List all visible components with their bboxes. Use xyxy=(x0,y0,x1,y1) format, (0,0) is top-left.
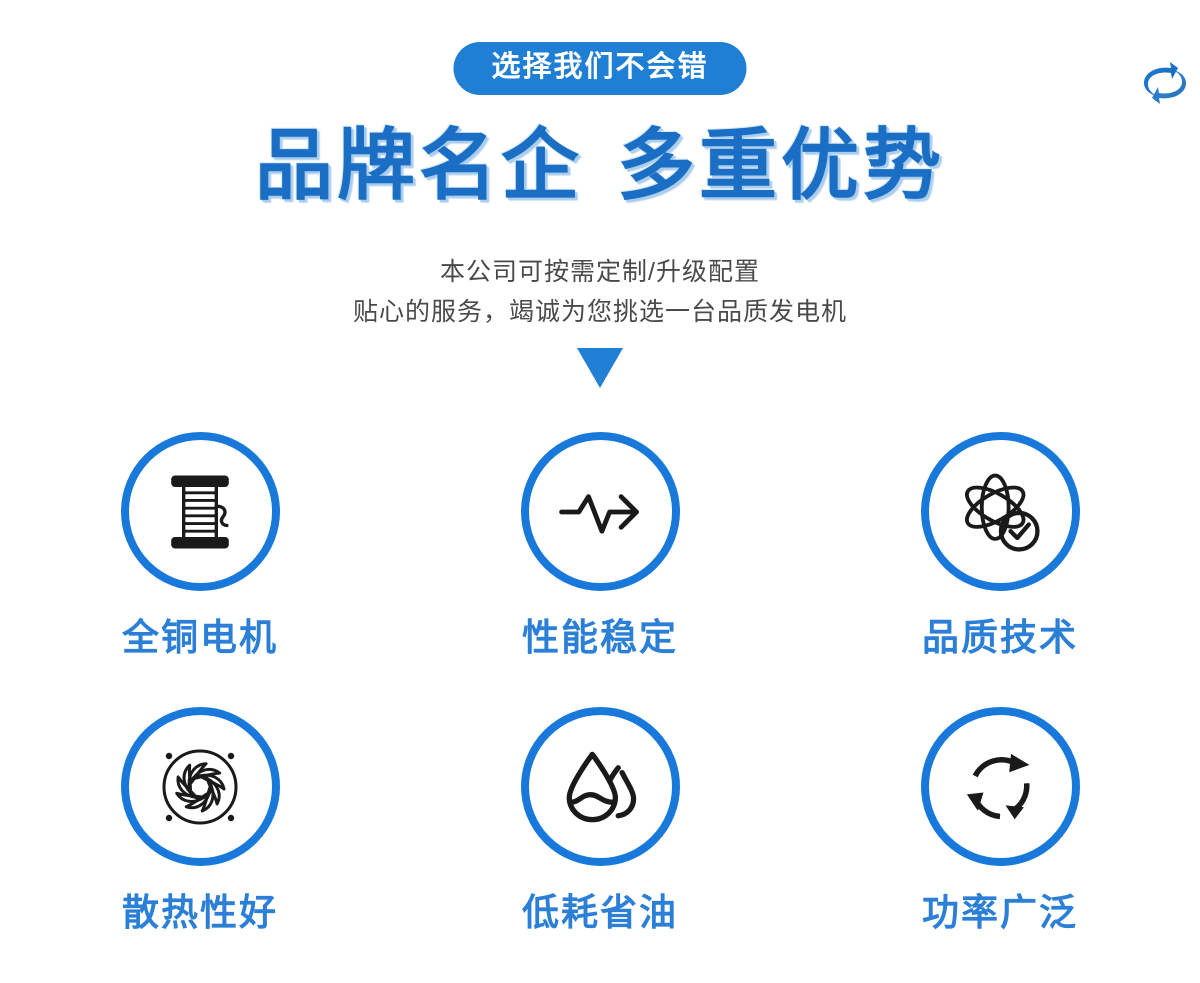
headline-part2: 多重优势 xyxy=(617,121,945,209)
feature-item: 全铜电机 xyxy=(0,432,400,707)
feature-item: 功率广泛 xyxy=(800,707,1200,982)
feature-label: 散热性好 xyxy=(122,894,278,931)
atom-check-icon xyxy=(921,432,1080,591)
headline-part1: 品牌名企 xyxy=(255,121,583,209)
feature-grid: 全铜电机 性能稳定 xyxy=(0,432,1200,982)
feature-label: 品质技术 xyxy=(922,619,1078,656)
page-title: 品牌名企多重优势 xyxy=(0,126,1200,204)
cycle-arrows-icon xyxy=(921,707,1080,866)
feature-label: 性能稳定 xyxy=(522,619,678,656)
feature-item: 散热性好 xyxy=(0,707,400,982)
feature-item: 性能稳定 xyxy=(400,432,800,707)
feature-item: 低耗省油 xyxy=(400,707,800,982)
feature-label: 低耗省油 xyxy=(522,894,678,931)
subtitle: 本公司可按需定制/升级配置 贴心的服务，竭诚为您挑选一台品质发电机 xyxy=(0,252,1200,332)
oil-droplets-icon xyxy=(521,707,680,866)
feature-label: 功率广泛 xyxy=(922,894,1078,931)
down-triangle-icon xyxy=(577,348,623,388)
subtitle-line-2: 贴心的服务，竭诚为您挑选一台品质发电机 xyxy=(0,292,1200,332)
feature-item: 品质技术 xyxy=(800,432,1200,707)
pulse-arrow-icon xyxy=(521,432,680,591)
cooling-fan-icon xyxy=(121,707,280,866)
feature-label: 全铜电机 xyxy=(122,619,278,656)
promo-banner: 选择我们不会错 品牌名企多重优势 本公司可按需定制/升级配置 贴心的服务，竭诚为… xyxy=(0,0,1200,983)
headline-badge: 选择我们不会错 xyxy=(453,42,746,95)
subtitle-line-1: 本公司可按需定制/升级配置 xyxy=(0,252,1200,292)
wire-spool-icon xyxy=(121,432,280,591)
rotating-arrows-logo xyxy=(1134,52,1196,114)
